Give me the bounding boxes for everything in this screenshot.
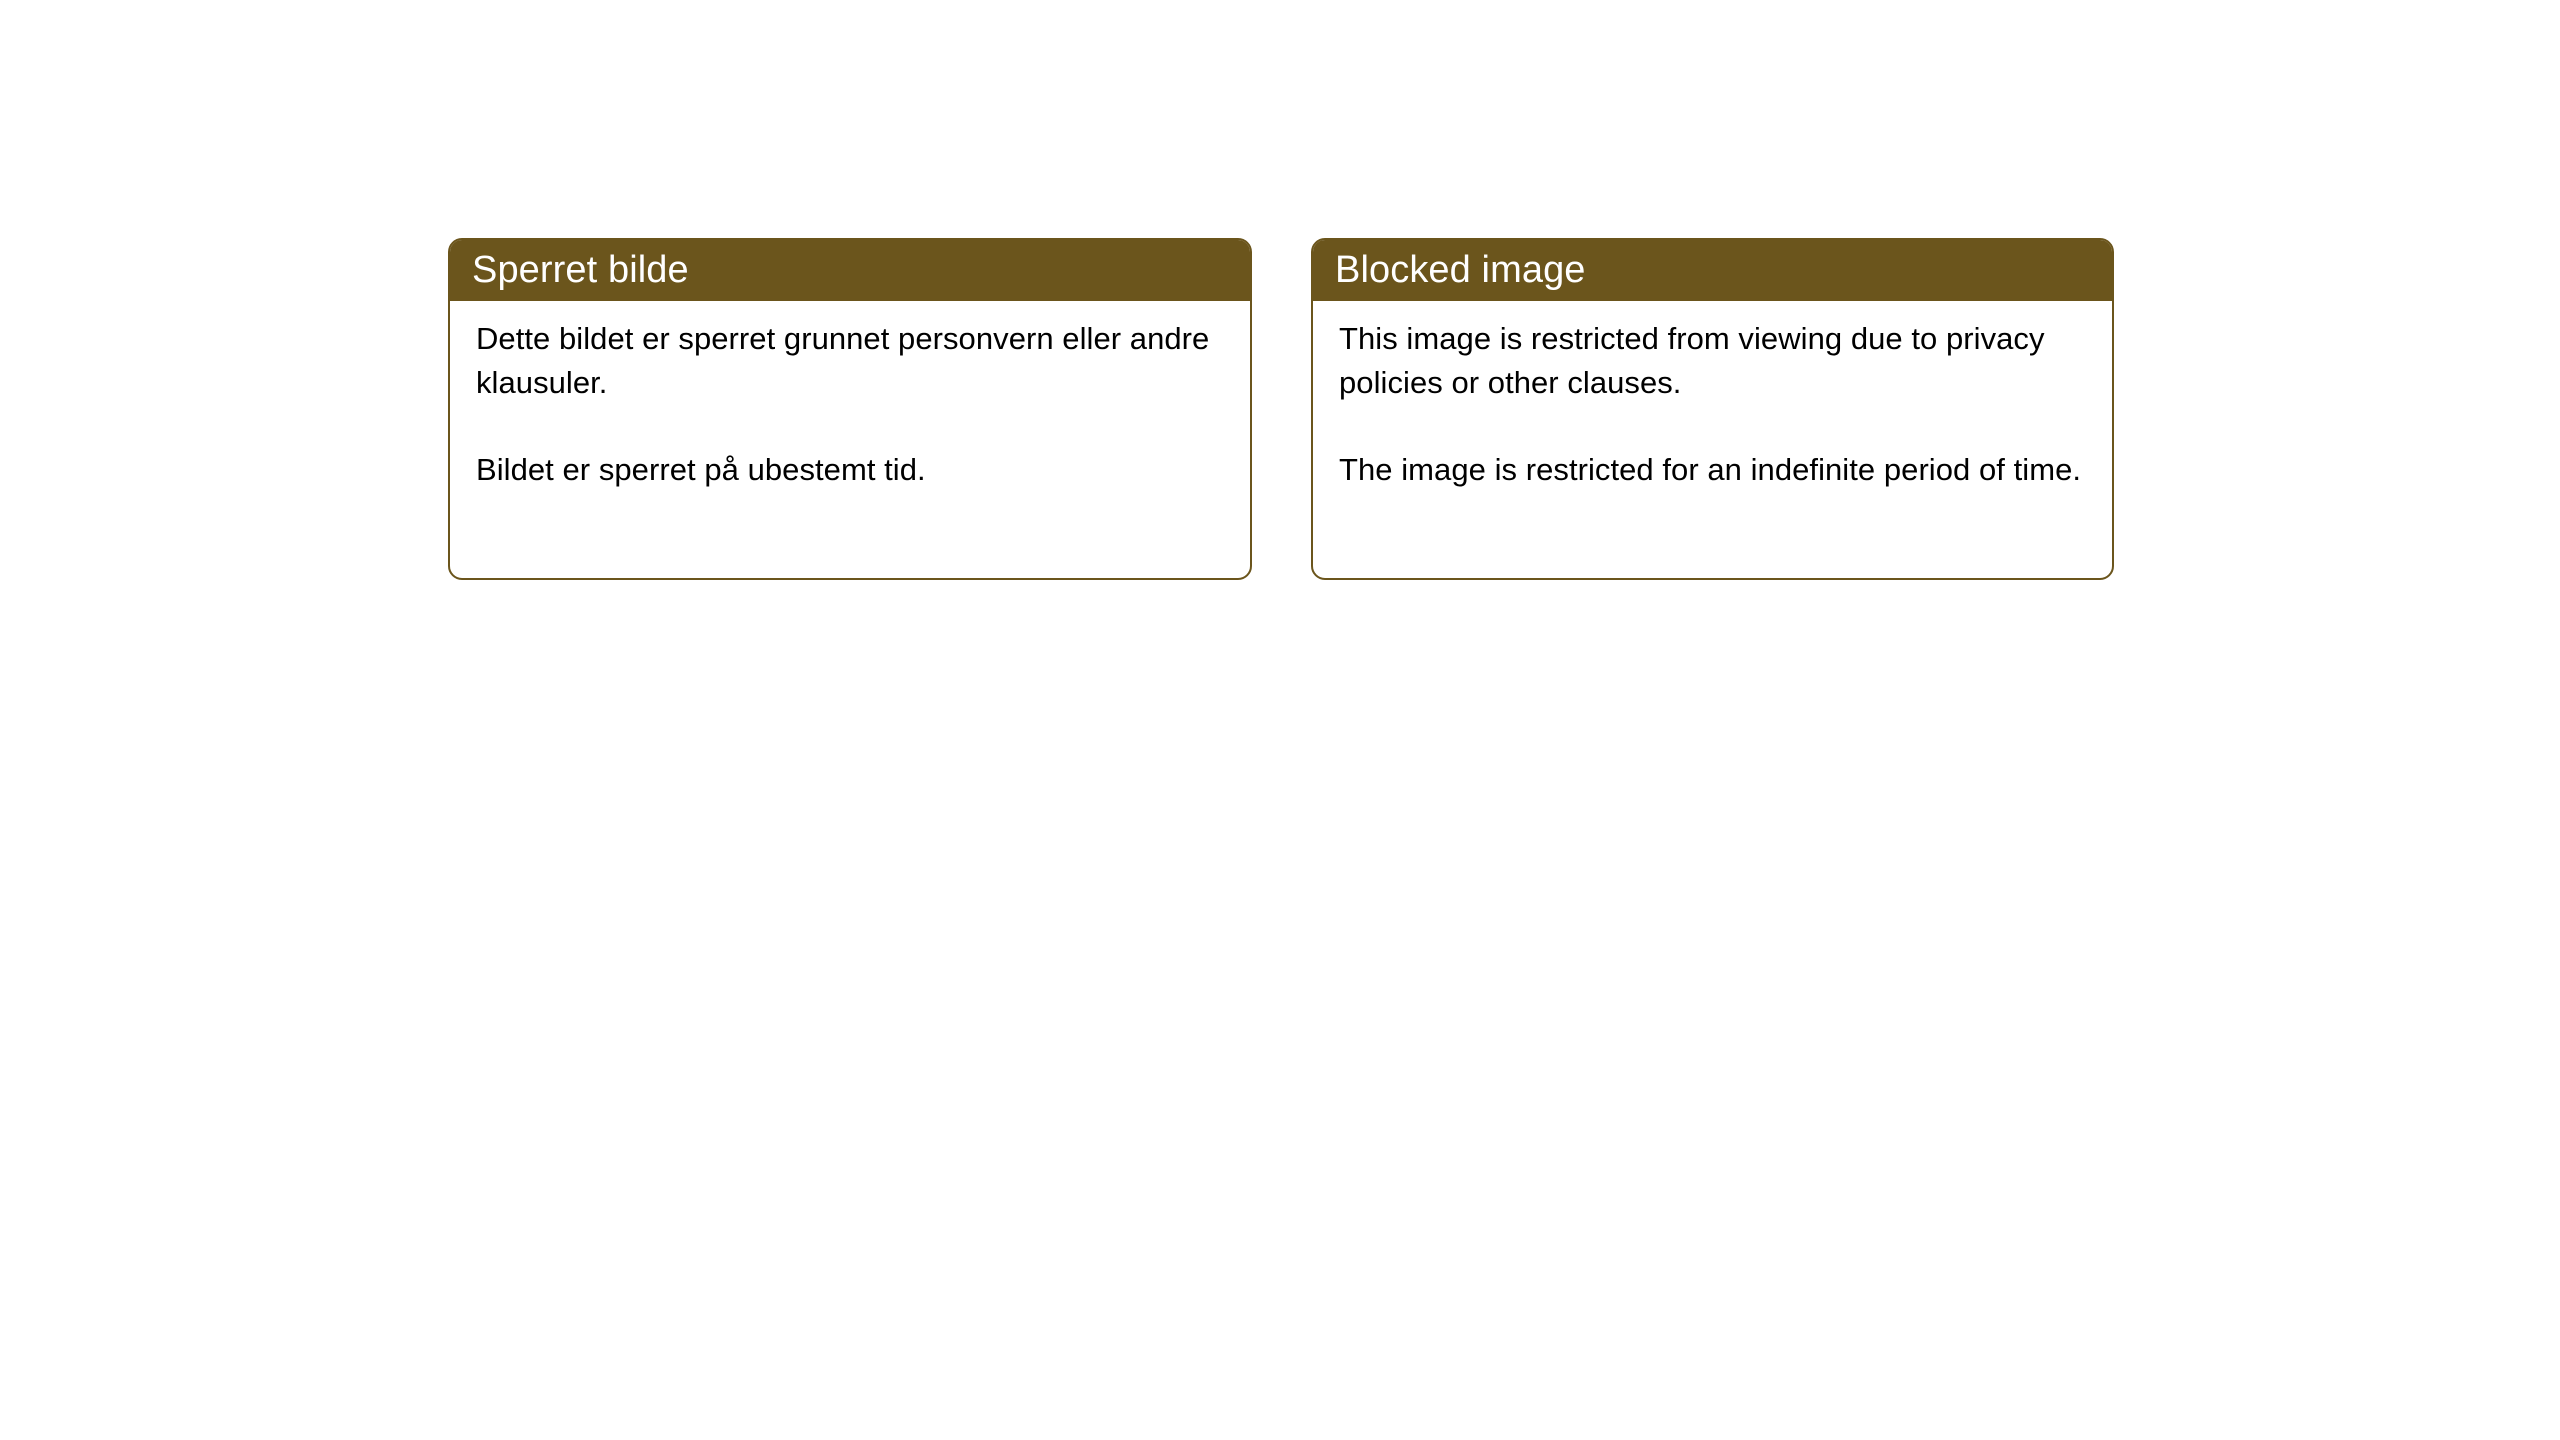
card-header-bar: Blocked image (1312, 239, 2113, 301)
card-paragraph-secondary: The image is restricted for an indefinit… (1339, 448, 2086, 492)
card-title: Sperret bilde (472, 251, 689, 289)
card-body: Dette bildet er sperret grunnet personve… (450, 301, 1250, 492)
card-paragraph-secondary: Bildet er sperret på ubestemt tid. (476, 448, 1224, 492)
card-paragraph-primary: Dette bildet er sperret grunnet personve… (476, 317, 1224, 405)
card-paragraph-primary: This image is restricted from viewing du… (1339, 317, 2086, 405)
blocked-image-notice-card-english: Blocked image This image is restricted f… (1311, 238, 2114, 580)
card-title: Blocked image (1335, 251, 1586, 289)
card-body: This image is restricted from viewing du… (1313, 301, 2112, 492)
card-header-bar: Sperret bilde (449, 239, 1251, 301)
blocked-image-notice-card-norwegian: Sperret bilde Dette bildet er sperret gr… (448, 238, 1252, 580)
page-canvas: Sperret bilde Dette bildet er sperret gr… (0, 0, 2560, 1440)
